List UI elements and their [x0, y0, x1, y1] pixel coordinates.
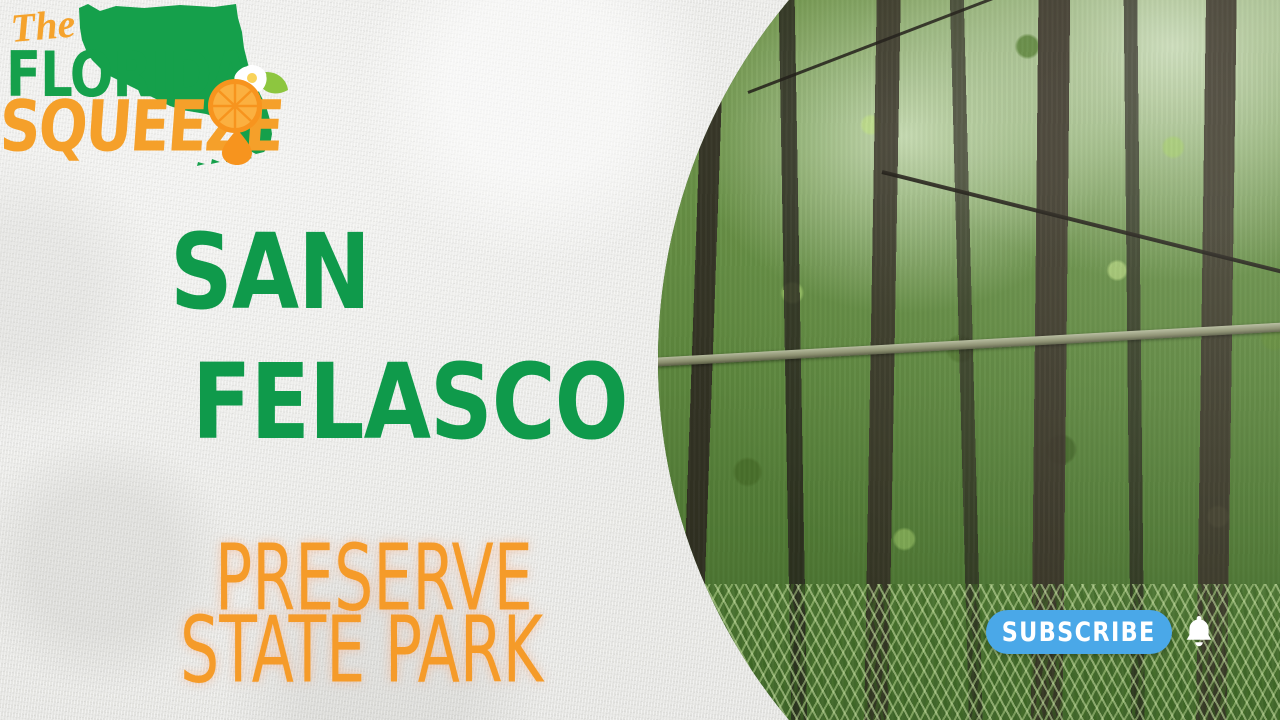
- thumbnail-canvas: The FLORIDA SQUEEZE: [0, 0, 1280, 720]
- headline-block: SAN FELASCO PRESERVE STATE PARK: [0, 0, 660, 720]
- title-line-2: FELASCO: [192, 355, 628, 451]
- title-line-1: SAN: [170, 225, 370, 321]
- subtitle-line-2: STATE PARK: [180, 605, 543, 697]
- subscribe-button-label: SUBSCRIBE: [1002, 617, 1156, 648]
- subscribe-cta-group: SUBSCRIBE: [986, 606, 1216, 658]
- subscribe-button[interactable]: SUBSCRIBE: [986, 610, 1172, 654]
- notification-bell-icon[interactable]: [1184, 615, 1214, 649]
